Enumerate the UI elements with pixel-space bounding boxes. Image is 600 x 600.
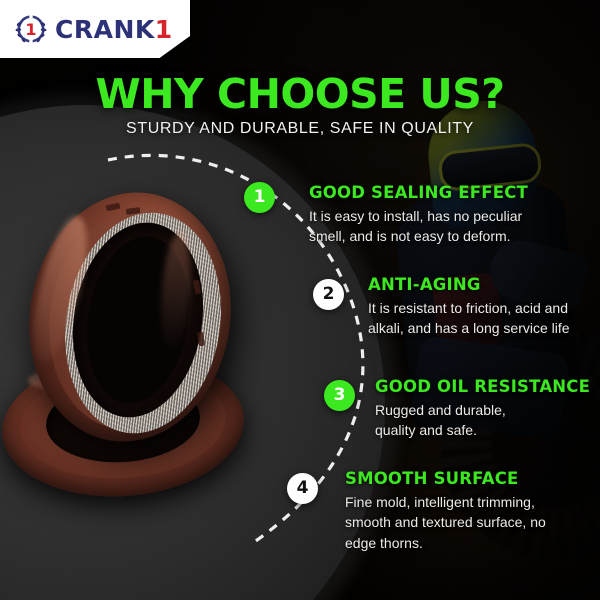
product-oil-seals bbox=[0, 186, 262, 516]
feature-item-4: SMOOTH SURFACE Fine mold, intelligent tr… bbox=[345, 470, 595, 553]
feature-item-3: GOOD OIL RESISTANCE Rugged and durable, … bbox=[375, 378, 595, 441]
feature-badge-1[interactable]: 1 bbox=[244, 182, 275, 213]
feature-number-4: 4 bbox=[297, 480, 309, 497]
page-headline: WHY CHOOSE US? bbox=[0, 74, 600, 115]
feature-body-2: It is resistant to friction, acid and al… bbox=[368, 298, 600, 339]
feature-body-line: smooth and textured surface, no bbox=[345, 512, 595, 532]
feature-item-1: GOOD SEALING EFFECT It is easy to instal… bbox=[309, 184, 589, 247]
wreath-number: 1 bbox=[25, 20, 36, 39]
feature-item-2: ANTI-AGING It is resistant to friction, … bbox=[368, 276, 600, 339]
feature-body-3: Rugged and durable, quality and safe. bbox=[375, 400, 595, 441]
feature-title-4: SMOOTH SURFACE bbox=[345, 470, 595, 489]
brand-name-text: CRANK bbox=[55, 17, 155, 42]
feature-title-1: GOOD SEALING EFFECT bbox=[309, 184, 589, 203]
feature-body-line: It is easy to install, has no peculiar bbox=[309, 206, 589, 226]
feature-badge-2[interactable]: 2 bbox=[313, 279, 344, 310]
brand-wordmark: CRANK1 bbox=[55, 17, 173, 42]
feature-badge-3[interactable]: 3 bbox=[324, 380, 355, 411]
feature-body-line: Fine mold, intelligent trimming, bbox=[345, 492, 595, 512]
brand-logo-banner[interactable]: 1 CRANK1 bbox=[0, 0, 190, 58]
feature-body-line: edge thorns. bbox=[345, 533, 595, 553]
feature-body-1: It is easy to install, has no peculiar s… bbox=[309, 206, 589, 247]
feature-number-2: 2 bbox=[323, 286, 335, 303]
brand-name-accent: 1 bbox=[155, 17, 173, 42]
feature-body-line: quality and safe. bbox=[375, 420, 595, 440]
promo-graphic: 1 CRANK1 WHY CHOOSE US? STURDY AND DURAB… bbox=[0, 0, 600, 600]
page-subheadline: STURDY AND DURABLE, SAFE IN QUALITY bbox=[0, 120, 600, 138]
feature-body-line: smell, and is not easy to deform. bbox=[309, 226, 589, 246]
feature-number-1: 1 bbox=[254, 189, 266, 206]
feature-badge-4[interactable]: 4 bbox=[287, 473, 318, 504]
feature-body-4: Fine mold, intelligent trimming, smooth … bbox=[345, 492, 595, 553]
feature-body-line: alkali, and has a long service life bbox=[368, 318, 600, 338]
feature-number-3: 3 bbox=[334, 387, 346, 404]
laurel-wreath-icon: 1 bbox=[14, 13, 48, 45]
feature-body-line: Rugged and durable, bbox=[375, 400, 595, 420]
feature-title-2: ANTI-AGING bbox=[368, 276, 600, 295]
feature-title-3: GOOD OIL RESISTANCE bbox=[375, 378, 595, 397]
feature-body-line: It is resistant to friction, acid and bbox=[368, 298, 600, 318]
